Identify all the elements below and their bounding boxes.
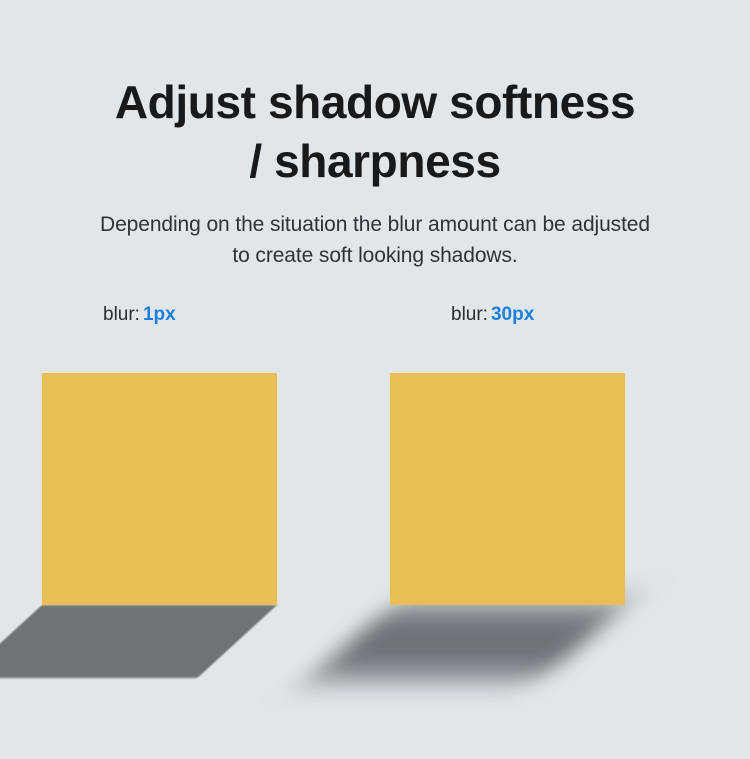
blur-label-prefix: blur: — [451, 304, 488, 325]
page-title-line-1: Adjust shadow softness — [0, 73, 750, 132]
slide-canvas: Adjust shadow softness / sharpness Depen… — [0, 0, 750, 759]
blur-label-prefix: blur: — [103, 304, 140, 325]
page-subtitle-line-2: to create soft looking shadows. — [0, 240, 750, 271]
blur-label-sharp: blur:1px — [103, 303, 176, 327]
cast-shadow-soft — [310, 605, 625, 678]
demo-square-soft — [390, 373, 625, 605]
cast-shadow-sharp — [0, 605, 277, 678]
page-subtitle: Depending on the situation the blur amou… — [0, 209, 750, 271]
page-title: Adjust shadow softness / sharpness — [0, 73, 750, 191]
blur-label-soft: blur:30px — [451, 303, 534, 327]
demo-square-sharp — [42, 373, 277, 605]
blur-label-value: 1px — [143, 304, 176, 325]
page-subtitle-line-1: Depending on the situation the blur amou… — [0, 209, 750, 240]
page-title-line-2: / sharpness — [0, 132, 750, 191]
blur-label-value: 30px — [491, 304, 534, 325]
